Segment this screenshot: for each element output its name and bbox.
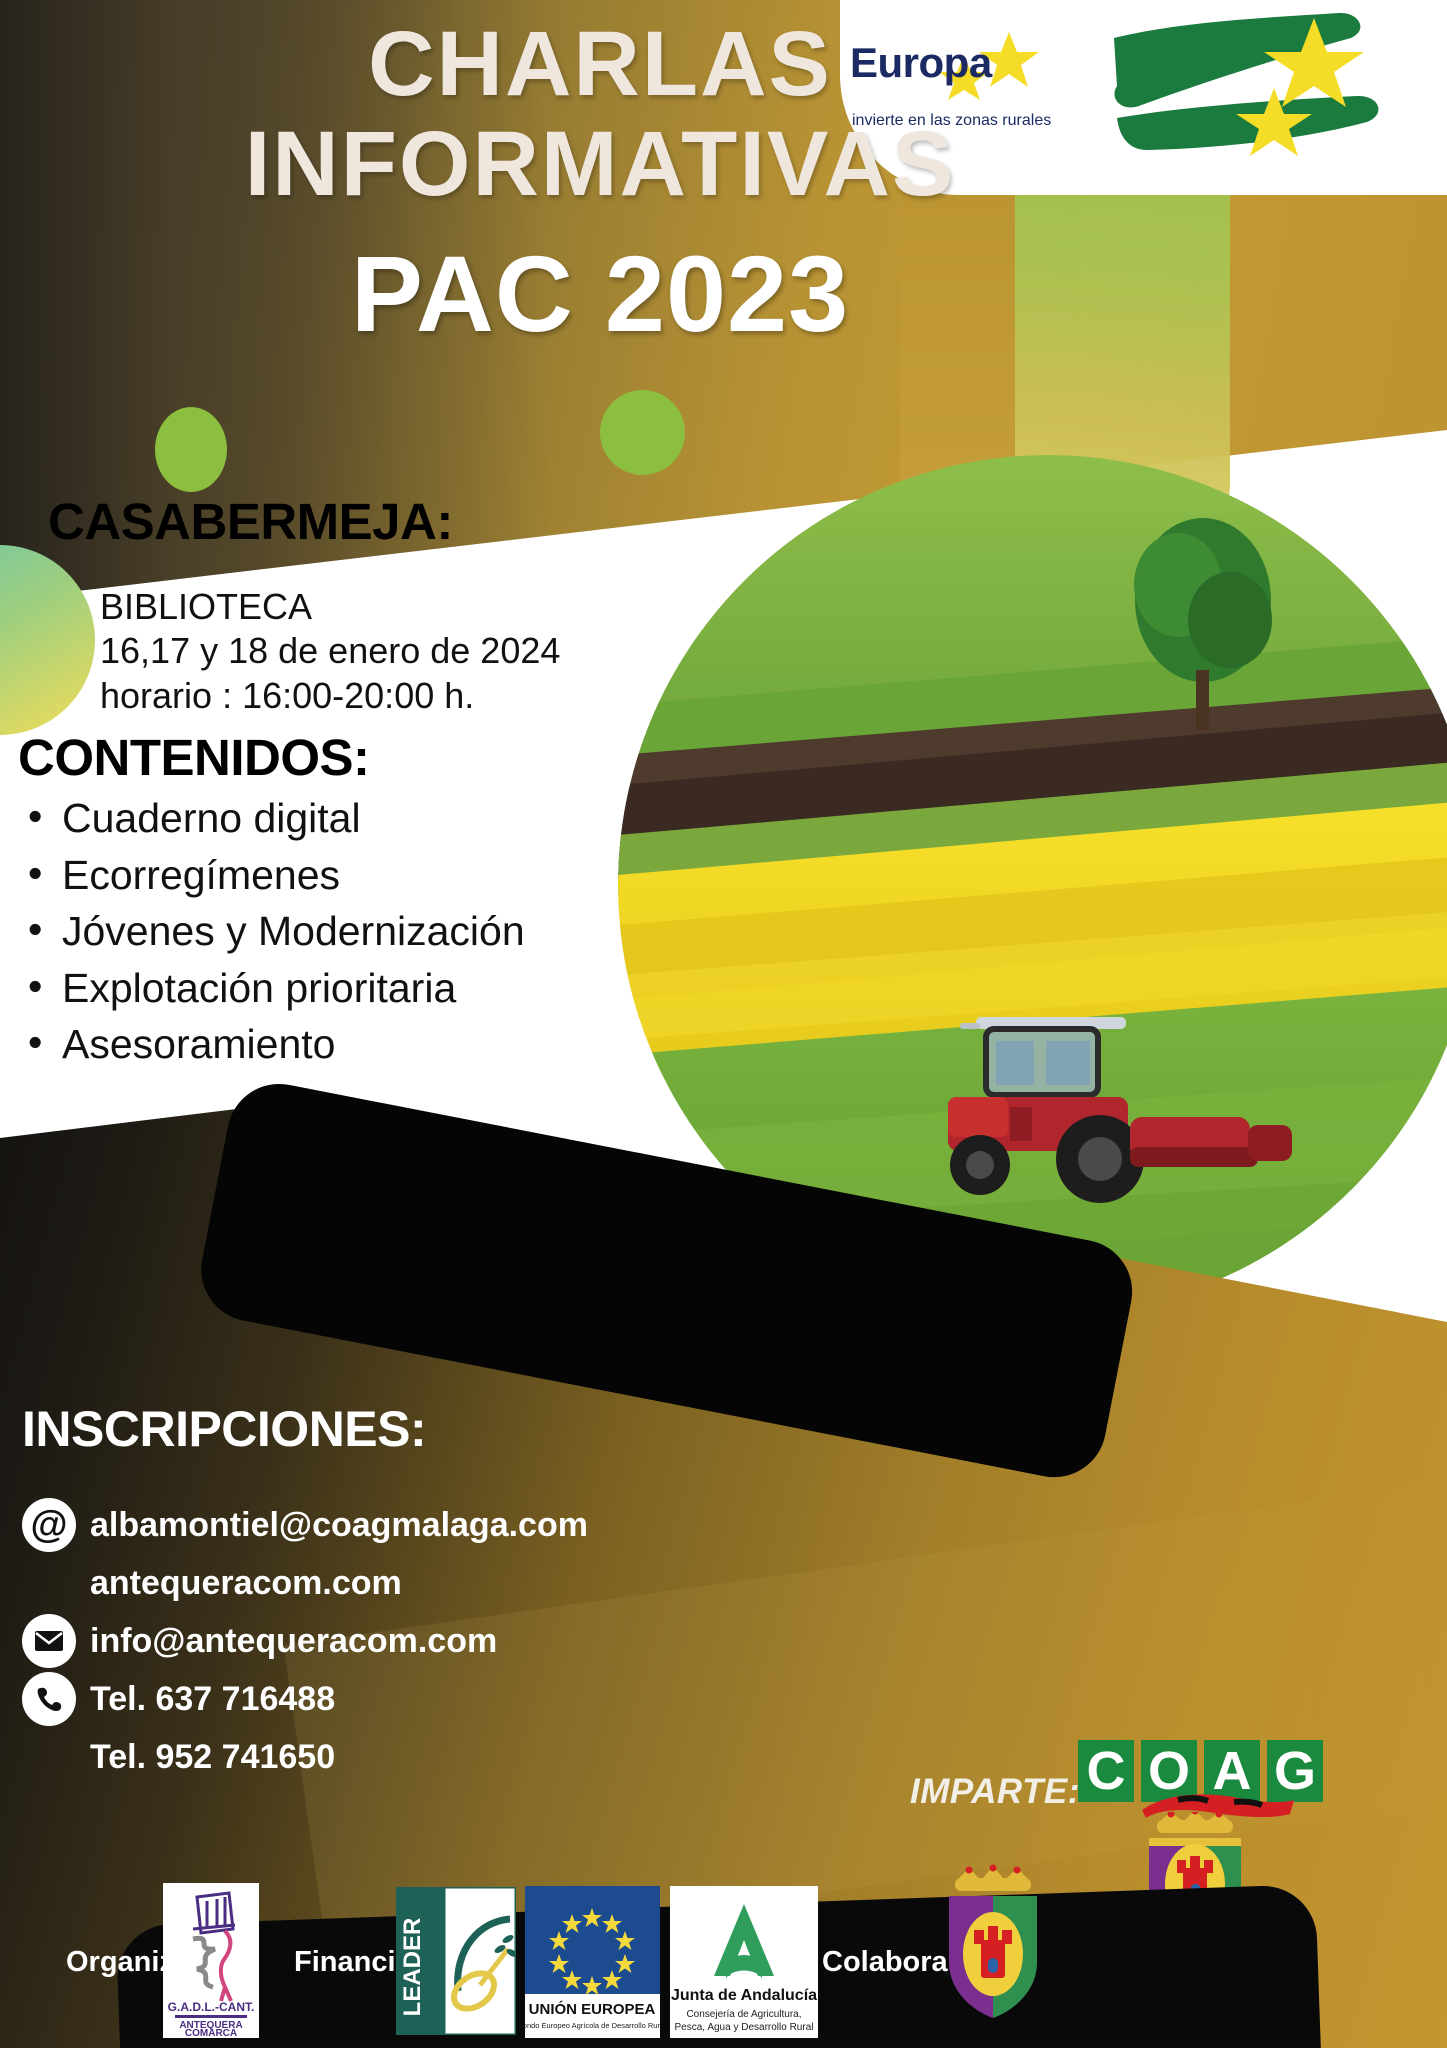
registration-heading: INSCRIPCIONES: [22, 1400, 426, 1458]
contents-heading: CONTENIDOS: [18, 728, 370, 787]
contact-phone-secondary[interactable]: Tel. 952 741650 [90, 1735, 335, 1779]
decor-circle-green [155, 407, 227, 492]
poster-root: Europa invierte en las zonas rurales CHA… [0, 0, 1447, 2048]
list-item: Explotación prioritaria [18, 960, 525, 1017]
envelope-icon [22, 1614, 76, 1668]
venue-dates: 16,17 y 18 de enero de 2024 [100, 629, 560, 673]
contact-row-phone-2[interactable]: Tel. 952 741650 [22, 1730, 662, 1784]
at-icon-spacer [22, 1556, 76, 1610]
venue-details: BIBLIOTECA 16,17 y 18 de enero de 2024 h… [100, 585, 560, 718]
contact-website[interactable]: antequeracom.com [90, 1561, 402, 1605]
decor-circle-green-upper [600, 390, 685, 475]
list-item: Cuaderno digital [18, 790, 525, 847]
contents-list: Cuaderno digital Ecorregímenes Jóvenes y… [18, 790, 525, 1073]
contact-phone-primary[interactable]: Tel. 637 716488 [90, 1677, 335, 1721]
union-europea-logo: UNIÓN EUROPEA Fondo Europeo Agrícola de … [525, 1886, 660, 2038]
list-item: Ecorregímenes [18, 847, 525, 904]
title-line-3: PAC 2023 [150, 240, 1050, 348]
at-icon: @ [22, 1498, 76, 1552]
location-heading: CASABERMEJA: [48, 492, 453, 551]
gadl-logo: G.A.D.L.-CANT. ANTEQUERA COMARCA [163, 1883, 259, 2038]
list-item: Jóvenes y Modernización [18, 903, 525, 960]
imparte-label: IMPARTE: [910, 1772, 1080, 1812]
gadl-text-1: G.A.D.L.-CANT. [168, 2000, 255, 2014]
phone-icon [22, 1672, 76, 1726]
venue-name: BIBLIOTECA [100, 585, 560, 629]
list-item: Asesoramiento [18, 1016, 525, 1073]
union-europea-graphic: UNIÓN EUROPEA Fondo Europeo Agrícola de … [525, 1886, 660, 2038]
title-line-2: INFORMATIVAS [150, 118, 1050, 210]
phone-icon-spacer [22, 1730, 76, 1784]
leader-text: LEADER [399, 1918, 426, 2017]
coag-letter-c: C [1078, 1740, 1134, 1802]
venue-schedule: horario : 16:00-20:00 h. [100, 674, 560, 718]
contact-row-email-2[interactable]: info@antequeracom.com [22, 1614, 662, 1668]
junta-text-2: Consejería de Agricultura, [686, 2009, 801, 2020]
contact-list: @ albamontiel@coagmalaga.com antequeraco… [22, 1498, 662, 1788]
contact-row-email-1[interactable]: @ albamontiel@coagmalaga.com [22, 1498, 662, 1552]
leader-logo: LEADER [396, 1887, 516, 2035]
gadl-logo-graphic: G.A.D.L.-CANT. ANTEQUERA COMARCA [163, 1883, 259, 2038]
junta-text-1: Junta de Andalucía [671, 1987, 817, 2004]
title-line-1: CHARLAS [150, 18, 1050, 110]
coag-logo: C O A G [1078, 1740, 1323, 1802]
ue-text-1: UNIÓN EUROPEA [529, 2000, 656, 2018]
contact-email-primary[interactable]: albamontiel@coagmalaga.com [90, 1503, 588, 1547]
leader-logo-graphic: LEADER [396, 1887, 516, 2035]
ue-text-2: Fondo Europeo Agrícola de Desarrollo Rur… [525, 2021, 660, 2030]
junta-andalucia-logo: Junta de Andalucía Consejería de Agricul… [670, 1886, 818, 2038]
contact-email-secondary[interactable]: info@antequeracom.com [90, 1619, 497, 1663]
colabora-shield-icon [933, 1862, 1053, 2030]
junta-text-3: Pesca, Agua y Desarrollo Rural [675, 2022, 814, 2033]
gadl-text-3: COMARCA [185, 2028, 237, 2038]
junta-logo-graphic: Junta de Andalucía Consejería de Agricul… [670, 1886, 818, 2038]
contact-row-phone-1[interactable]: Tel. 637 716488 [22, 1672, 662, 1726]
contact-row-website[interactable]: antequeracom.com [22, 1556, 662, 1610]
